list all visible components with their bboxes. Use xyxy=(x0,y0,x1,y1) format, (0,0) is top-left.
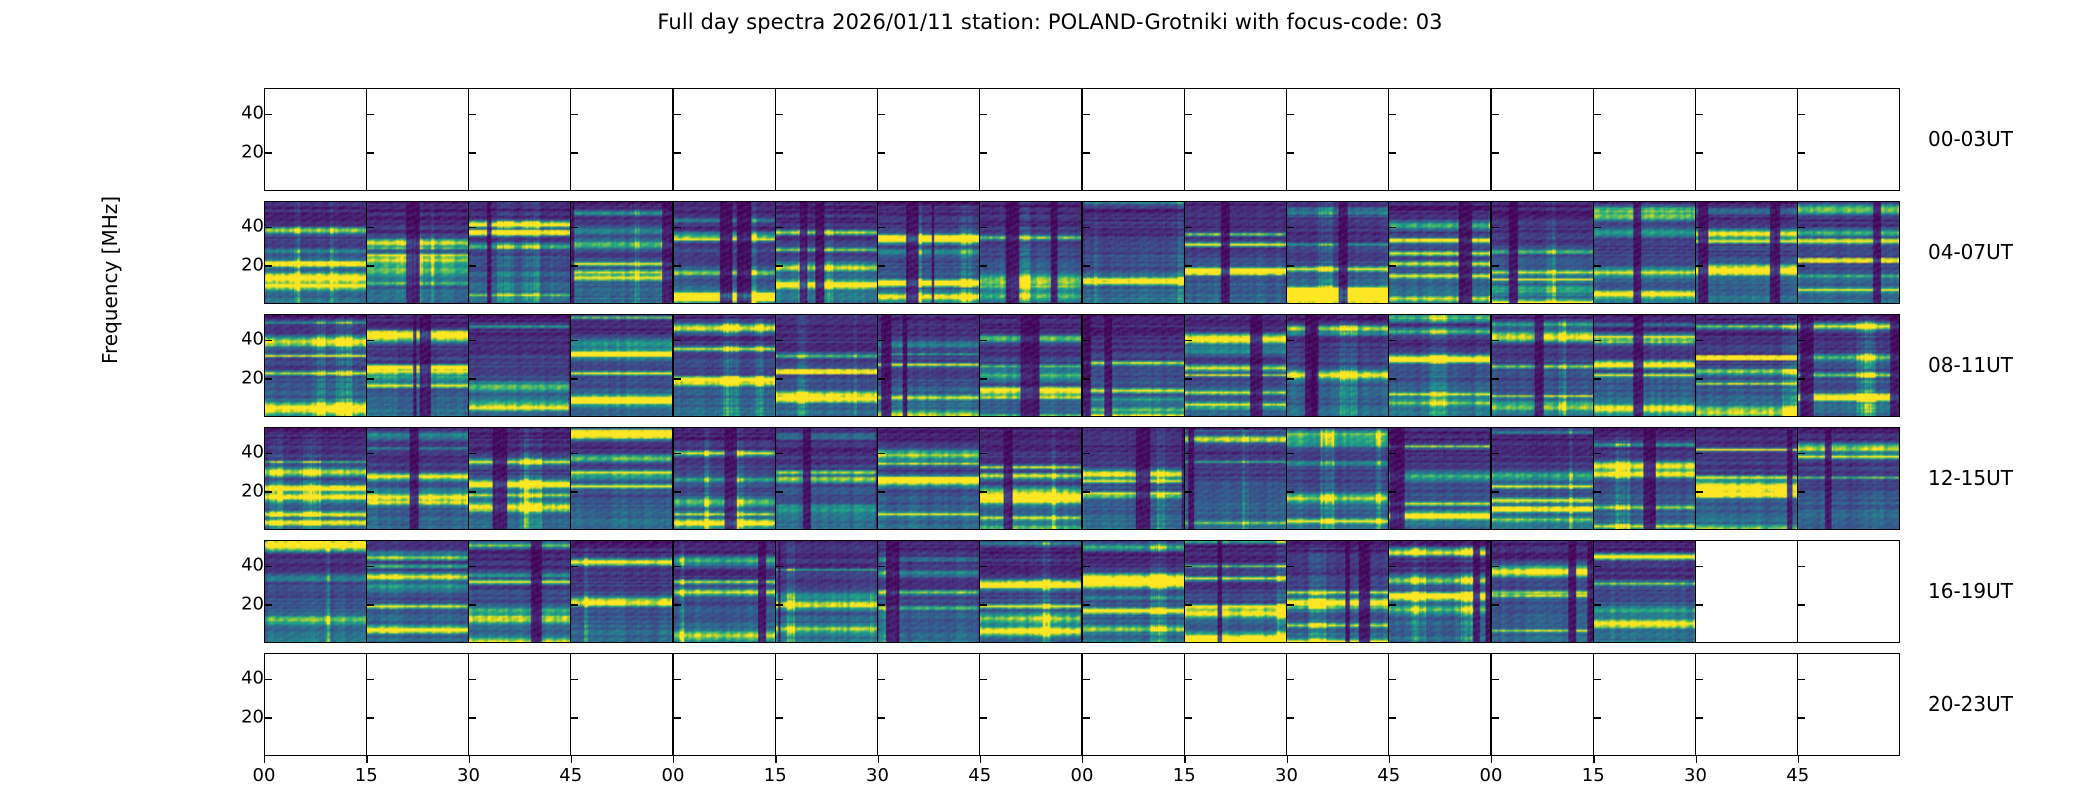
y-axis-label-text: Frequency [MHz] xyxy=(98,196,122,364)
y-tick-20 xyxy=(1594,717,1601,719)
x-tick-label: 15 xyxy=(1173,765,1196,786)
y-tick-40 xyxy=(265,453,272,455)
y-tick-20 xyxy=(469,604,476,606)
spectrogram-image xyxy=(571,541,672,642)
spectrogram-image xyxy=(1083,202,1184,303)
y-tick-40 xyxy=(1287,453,1294,455)
y-tick-20 xyxy=(1492,717,1499,719)
y-tick-40 xyxy=(1287,227,1294,229)
y-tick-20 xyxy=(1389,152,1396,154)
y-tick-40 xyxy=(469,453,476,455)
y-tick-40 xyxy=(265,679,272,681)
spectrogram-cell[interactable] xyxy=(1083,89,1185,190)
spectrogram-image xyxy=(878,202,979,303)
spectrogram-cell[interactable] xyxy=(1798,89,1899,190)
spectrogram-image xyxy=(1492,428,1593,529)
x-tick xyxy=(980,756,981,763)
y-tick-20 xyxy=(469,265,476,267)
spectrogram-cell[interactable] xyxy=(1696,202,1798,303)
spectrogram-cell[interactable] xyxy=(776,428,878,529)
y-tick-20 xyxy=(1287,265,1294,267)
spectrogram-cell[interactable] xyxy=(1696,654,1798,755)
y-tick-40 xyxy=(980,453,987,455)
y-tick-40 xyxy=(1287,340,1294,342)
spectrogram-image xyxy=(980,202,1081,303)
y-tick-20 xyxy=(674,265,681,267)
y-tick-20 xyxy=(367,604,374,606)
spectrogram-cell[interactable] xyxy=(674,541,776,642)
panel-row-00-03 xyxy=(264,88,1900,191)
y-tick-40 xyxy=(1389,340,1396,342)
spectrogram-cell[interactable] xyxy=(1492,315,1594,416)
y-tick-40 xyxy=(1798,227,1805,229)
spectrogram-image xyxy=(776,202,877,303)
y-tick-40 xyxy=(1594,679,1601,681)
spectrogram-cell[interactable] xyxy=(367,428,469,529)
y-tick-40 xyxy=(1083,340,1090,342)
y-tick-40 xyxy=(1389,227,1396,229)
spectrogram-cell[interactable] xyxy=(878,202,980,303)
y-tick-20 xyxy=(980,152,987,154)
spectrogram-cell[interactable] xyxy=(1185,541,1287,642)
spectrogram-cell[interactable] xyxy=(776,315,878,416)
spectrogram-image xyxy=(776,541,877,642)
y-tick-20 xyxy=(980,265,987,267)
spectrogram-cell[interactable] xyxy=(469,89,571,190)
spectrogram-cell[interactable] xyxy=(1287,428,1389,529)
spectrogram-cell[interactable] xyxy=(1389,89,1492,190)
y-tick-20 xyxy=(1185,265,1192,267)
y-tick-40 xyxy=(1798,114,1805,116)
y-tick-40 xyxy=(265,227,272,229)
spectrogram-cell[interactable] xyxy=(1492,202,1594,303)
spectrogram-cell[interactable] xyxy=(265,654,367,755)
y-tick-20 xyxy=(571,717,578,719)
panel-row-frame xyxy=(264,427,1900,530)
spectrogram-image xyxy=(1185,428,1286,529)
x-tick xyxy=(1082,756,1083,763)
spectrogram-cell[interactable] xyxy=(1185,202,1287,303)
y-tick-40 xyxy=(367,340,374,342)
y-tick-40 xyxy=(469,227,476,229)
y-tick-20 xyxy=(571,491,578,493)
spectrogram-cell[interactable] xyxy=(1594,202,1696,303)
page-title: Full day spectra 2026/01/11 station: POL… xyxy=(0,10,2100,34)
spectrogram-cell[interactable] xyxy=(367,541,469,642)
y-tick-40 xyxy=(980,227,987,229)
y-tick-40 xyxy=(1594,453,1601,455)
spectrogram-cell[interactable] xyxy=(878,315,980,416)
y-tick-20 xyxy=(1185,717,1192,719)
y-tick-20 xyxy=(1083,265,1090,267)
y-tick-20 xyxy=(776,152,783,154)
y-tick-40 xyxy=(1696,340,1703,342)
spectrogram-cell[interactable] xyxy=(1287,89,1389,190)
spectrogram-cell[interactable] xyxy=(571,89,674,190)
spectrogram-cell[interactable] xyxy=(469,315,571,416)
spectrogram-cell[interactable] xyxy=(1083,202,1185,303)
x-tick-label: 45 xyxy=(968,765,991,786)
spectrogram-image xyxy=(1287,315,1388,416)
spectrogram-cell[interactable] xyxy=(571,654,674,755)
y-tick-20 xyxy=(1798,604,1805,606)
y-tick-40 xyxy=(1594,340,1601,342)
spectrogram-cell[interactable] xyxy=(469,541,571,642)
spectrogram-cell[interactable] xyxy=(776,541,878,642)
y-tick-20 xyxy=(1798,265,1805,267)
y-tick-20 xyxy=(776,717,783,719)
spectrogram-image xyxy=(878,315,979,416)
row-label-20-23: 20-23UT xyxy=(1928,692,2013,716)
spectrogram-cell[interactable] xyxy=(878,654,980,755)
y-tick-20 xyxy=(1083,717,1090,719)
spectrogram-cell[interactable] xyxy=(571,202,674,303)
x-axis: 00153045001530450015304500153045 xyxy=(264,756,1900,796)
y-tick-40 xyxy=(265,566,272,568)
spectrogram-image xyxy=(367,202,468,303)
y-tick-20 xyxy=(1389,604,1396,606)
spectrogram-cell[interactable] xyxy=(1492,428,1594,529)
y-tick-40 xyxy=(1696,114,1703,116)
spectrogram-cell[interactable] xyxy=(1185,89,1287,190)
y-tick-40 xyxy=(1185,227,1192,229)
y-tick-20 xyxy=(1389,378,1396,380)
y-tick-20 xyxy=(469,491,476,493)
row-label-00-03: 00-03UT xyxy=(1928,127,2013,151)
y-tick-40 xyxy=(674,679,681,681)
y-tick-20 xyxy=(1594,265,1601,267)
spectrogram-cell[interactable] xyxy=(469,202,571,303)
y-tick-20 xyxy=(776,604,783,606)
y-tick-40 xyxy=(1492,340,1499,342)
spectrogram-cell[interactable] xyxy=(367,315,469,416)
spectrogram-cell[interactable] xyxy=(1492,89,1594,190)
spectrogram-cell[interactable] xyxy=(1492,654,1594,755)
y-tick-40 xyxy=(571,679,578,681)
y-tick-40 xyxy=(980,340,987,342)
y-tick-40 xyxy=(878,114,885,116)
spectrogram-cell[interactable] xyxy=(1594,541,1696,642)
y-tick-40 xyxy=(1185,679,1192,681)
y-tick-20 xyxy=(878,491,885,493)
y-tick-20 xyxy=(980,378,987,380)
y-tick-40 xyxy=(571,566,578,568)
y-tick-40 xyxy=(1492,453,1499,455)
y-tick-40 xyxy=(1287,566,1294,568)
y-tick-label: 20 xyxy=(241,255,264,276)
spectrogram-cell[interactable] xyxy=(1696,89,1798,190)
spectrogram-image xyxy=(1594,315,1695,416)
spectrogram-cell[interactable] xyxy=(980,428,1083,529)
y-tick-20 xyxy=(367,265,374,267)
y-tick-40 xyxy=(1083,679,1090,681)
y-tick-label: 40 xyxy=(241,668,264,689)
spectrogram-cell[interactable] xyxy=(776,202,878,303)
y-tick-20 xyxy=(1696,604,1703,606)
y-tick-20 xyxy=(776,378,783,380)
y-tick-20 xyxy=(1696,717,1703,719)
y-tick-40 xyxy=(1696,453,1703,455)
spectrogram-cell[interactable] xyxy=(367,89,469,190)
x-tick xyxy=(264,756,265,763)
spectrogram-cell[interactable] xyxy=(980,315,1083,416)
y-tick-40 xyxy=(367,566,374,568)
spectrogram-image xyxy=(1798,202,1899,303)
y-tick-40 xyxy=(776,566,783,568)
y-tick-20 xyxy=(878,265,885,267)
x-tick-label: 30 xyxy=(1684,765,1707,786)
y-tick-40 xyxy=(1185,340,1192,342)
spectrogram-image xyxy=(1389,202,1490,303)
spectrogram-image xyxy=(1798,315,1899,416)
spectrogram-cell[interactable] xyxy=(1389,202,1492,303)
spectrogram-cell[interactable] xyxy=(469,654,571,755)
y-tick-40 xyxy=(1696,227,1703,229)
y-tick-40 xyxy=(1083,453,1090,455)
y-tick-20 xyxy=(980,491,987,493)
y-tick-20 xyxy=(367,378,374,380)
y-tick-40 xyxy=(980,679,987,681)
spectrogram-cell[interactable] xyxy=(1185,428,1287,529)
spectrogram-image xyxy=(776,315,877,416)
y-tick-20 xyxy=(367,491,374,493)
spectrogram-cell[interactable] xyxy=(1798,428,1899,529)
spectrogram-cell[interactable] xyxy=(1594,315,1696,416)
spectrogram-cell[interactable] xyxy=(1083,654,1185,755)
y-tick-40 xyxy=(571,114,578,116)
y-tick-40 xyxy=(1696,566,1703,568)
spectrogram-figure: Full day spectra 2026/01/11 station: POL… xyxy=(0,0,2100,800)
spectrogram-cell[interactable] xyxy=(1287,654,1389,755)
y-tick-label: 40 xyxy=(241,329,264,350)
spectrogram-cell[interactable] xyxy=(776,89,878,190)
spectrogram-cell[interactable] xyxy=(469,428,571,529)
y-tick-20 xyxy=(1185,491,1192,493)
y-tick-20 xyxy=(1696,378,1703,380)
spectrogram-image xyxy=(1287,202,1388,303)
y-tick-20 xyxy=(1696,152,1703,154)
x-tick-label: 15 xyxy=(1582,765,1605,786)
y-tick-40 xyxy=(1389,566,1396,568)
spectrogram-cell[interactable] xyxy=(980,654,1083,755)
panel-row-frame xyxy=(264,540,1900,643)
spectrogram-image xyxy=(1492,315,1593,416)
y-tick-20 xyxy=(1083,152,1090,154)
spectrogram-image xyxy=(1696,202,1797,303)
y-tick-20 xyxy=(878,152,885,154)
spectrogram-cell[interactable] xyxy=(1594,654,1696,755)
x-tick-label: 00 xyxy=(253,765,276,786)
y-tick-20 xyxy=(1798,152,1805,154)
spectrogram-image xyxy=(674,202,775,303)
y-tick-40 xyxy=(878,453,885,455)
x-tick xyxy=(1287,756,1288,763)
spectrogram-cell[interactable] xyxy=(674,315,776,416)
spectrogram-cell[interactable] xyxy=(1696,315,1798,416)
y-tick-20 xyxy=(1185,152,1192,154)
y-tick-20 xyxy=(571,152,578,154)
y-tick-40 xyxy=(878,340,885,342)
spectrogram-cell[interactable] xyxy=(674,202,776,303)
spectrogram-cell[interactable] xyxy=(878,541,980,642)
spectrogram-cell[interactable] xyxy=(1287,202,1389,303)
spectrogram-image xyxy=(1696,315,1797,416)
y-tick-label: 20 xyxy=(241,594,264,615)
spectrogram-image xyxy=(878,541,979,642)
spectrogram-cell[interactable] xyxy=(980,89,1083,190)
panel-row-08-11 xyxy=(264,314,1900,417)
x-tick xyxy=(469,756,470,763)
y-tick-40 xyxy=(1083,566,1090,568)
y-tick-40 xyxy=(776,453,783,455)
y-tick-20 xyxy=(1389,717,1396,719)
y-tick-40 xyxy=(469,114,476,116)
spectrogram-image xyxy=(1696,428,1797,529)
panel-row-04-07 xyxy=(264,201,1900,304)
y-tick-20 xyxy=(265,152,272,154)
y-tick-40 xyxy=(674,114,681,116)
spectrogram-cell[interactable] xyxy=(265,315,367,416)
y-tick-20 xyxy=(265,265,272,267)
spectrogram-image xyxy=(1492,202,1593,303)
spectrogram-cell[interactable] xyxy=(1083,541,1185,642)
spectrogram-cell[interactable] xyxy=(1185,315,1287,416)
spectrogram-image xyxy=(469,315,570,416)
y-tick-40 xyxy=(674,566,681,568)
spectrogram-image xyxy=(367,541,468,642)
spectrogram-cell[interactable] xyxy=(1389,315,1492,416)
y-tick-20 xyxy=(367,717,374,719)
spectrogram-cell[interactable] xyxy=(1696,428,1798,529)
x-tick xyxy=(1184,756,1185,763)
row-label-08-11: 08-11UT xyxy=(1928,353,2013,377)
panel-row-16-19 xyxy=(264,540,1900,643)
spectrogram-cell[interactable] xyxy=(674,89,776,190)
spectrogram-cell[interactable] xyxy=(1492,541,1594,642)
spectrogram-cell[interactable] xyxy=(571,315,674,416)
y-tick-40 xyxy=(878,566,885,568)
y-tick-20 xyxy=(1287,152,1294,154)
spectrogram-cell[interactable] xyxy=(1696,541,1798,642)
y-tick-20 xyxy=(674,491,681,493)
spectrogram-cell[interactable] xyxy=(265,428,367,529)
spectrogram-cell[interactable] xyxy=(674,428,776,529)
x-tick-label: 00 xyxy=(1480,765,1503,786)
spectrogram-cell[interactable] xyxy=(265,202,367,303)
spectrogram-image xyxy=(1083,428,1184,529)
y-tick-40 xyxy=(1696,679,1703,681)
y-tick-20 xyxy=(265,491,272,493)
y-tick-20 xyxy=(571,378,578,380)
x-tick-label: 45 xyxy=(1786,765,1809,786)
spectrogram-cell[interactable] xyxy=(1083,315,1185,416)
spectrogram-cell[interactable] xyxy=(674,654,776,755)
spectrogram-cell[interactable] xyxy=(367,654,469,755)
y-tick-20 xyxy=(980,717,987,719)
spectrogram-image xyxy=(571,428,672,529)
spectrogram-cell[interactable] xyxy=(1287,315,1389,416)
y-tick-20 xyxy=(265,717,272,719)
spectrogram-cell[interactable] xyxy=(1594,428,1696,529)
spectrogram-image xyxy=(1389,541,1490,642)
spectrogram-image xyxy=(265,315,366,416)
y-tick-20 xyxy=(1083,378,1090,380)
spectrogram-cell[interactable] xyxy=(1798,541,1899,642)
spectrogram-cell[interactable] xyxy=(980,202,1083,303)
spectrogram-cell[interactable] xyxy=(1594,89,1696,190)
y-tick-40 xyxy=(1492,679,1499,681)
spectrogram-image xyxy=(469,428,570,529)
spectrogram-image xyxy=(367,315,468,416)
x-tick xyxy=(878,756,879,763)
x-tick-label: 45 xyxy=(1377,765,1400,786)
spectrogram-cell[interactable] xyxy=(265,89,367,190)
y-tick-40 xyxy=(367,453,374,455)
x-tick-label: 45 xyxy=(559,765,582,786)
spectrogram-cell[interactable] xyxy=(1389,541,1492,642)
spectrogram-cell[interactable] xyxy=(1798,315,1899,416)
row-label-04-07: 04-07UT xyxy=(1928,240,2013,264)
x-tick xyxy=(1491,756,1492,763)
panel-row-12-15 xyxy=(264,427,1900,530)
y-tick-label: 20 xyxy=(241,368,264,389)
y-tick-40 xyxy=(1798,679,1805,681)
y-tick-20 xyxy=(1594,604,1601,606)
spectrogram-cell[interactable] xyxy=(265,541,367,642)
y-tick-20 xyxy=(1492,265,1499,267)
x-tick-label: 00 xyxy=(1071,765,1094,786)
spectrogram-cell[interactable] xyxy=(571,428,674,529)
panel-row-20-23 xyxy=(264,653,1900,756)
spectrogram-cell[interactable] xyxy=(1798,202,1899,303)
y-tick-40 xyxy=(1492,114,1499,116)
y-tick-20 xyxy=(1083,604,1090,606)
y-tick-20 xyxy=(1594,378,1601,380)
spectrogram-image xyxy=(1389,428,1490,529)
spectrogram-cell[interactable] xyxy=(1389,428,1492,529)
y-tick-40 xyxy=(674,227,681,229)
spectrogram-cell[interactable] xyxy=(878,428,980,529)
y-tick-40 xyxy=(367,114,374,116)
spectrogram-image xyxy=(571,315,672,416)
y-tick-40 xyxy=(776,679,783,681)
y-tick-20 xyxy=(1287,717,1294,719)
x-tick-label: 30 xyxy=(866,765,889,786)
spectrogram-cell[interactable] xyxy=(980,541,1083,642)
spectrogram-cell[interactable] xyxy=(1798,654,1899,755)
spectrogram-cell[interactable] xyxy=(367,202,469,303)
y-tick-20 xyxy=(878,378,885,380)
y-tick-40 xyxy=(674,340,681,342)
spectrogram-cell[interactable] xyxy=(776,654,878,755)
spectrogram-image xyxy=(1083,541,1184,642)
spectrogram-cell[interactable] xyxy=(1389,654,1492,755)
spectrogram-image xyxy=(674,315,775,416)
y-tick-40 xyxy=(571,227,578,229)
spectrogram-cell[interactable] xyxy=(1185,654,1287,755)
y-tick-20 xyxy=(1492,378,1499,380)
spectrogram-cell[interactable] xyxy=(571,541,674,642)
spectrogram-image xyxy=(674,541,775,642)
spectrogram-cell[interactable] xyxy=(1287,541,1389,642)
spectrogram-cell[interactable] xyxy=(878,89,980,190)
y-tick-40 xyxy=(469,340,476,342)
spectrogram-image xyxy=(980,541,1081,642)
y-tick-20 xyxy=(1389,265,1396,267)
spectrogram-image xyxy=(1798,428,1899,529)
y-tick-40 xyxy=(1389,453,1396,455)
spectrogram-cell[interactable] xyxy=(1083,428,1185,529)
